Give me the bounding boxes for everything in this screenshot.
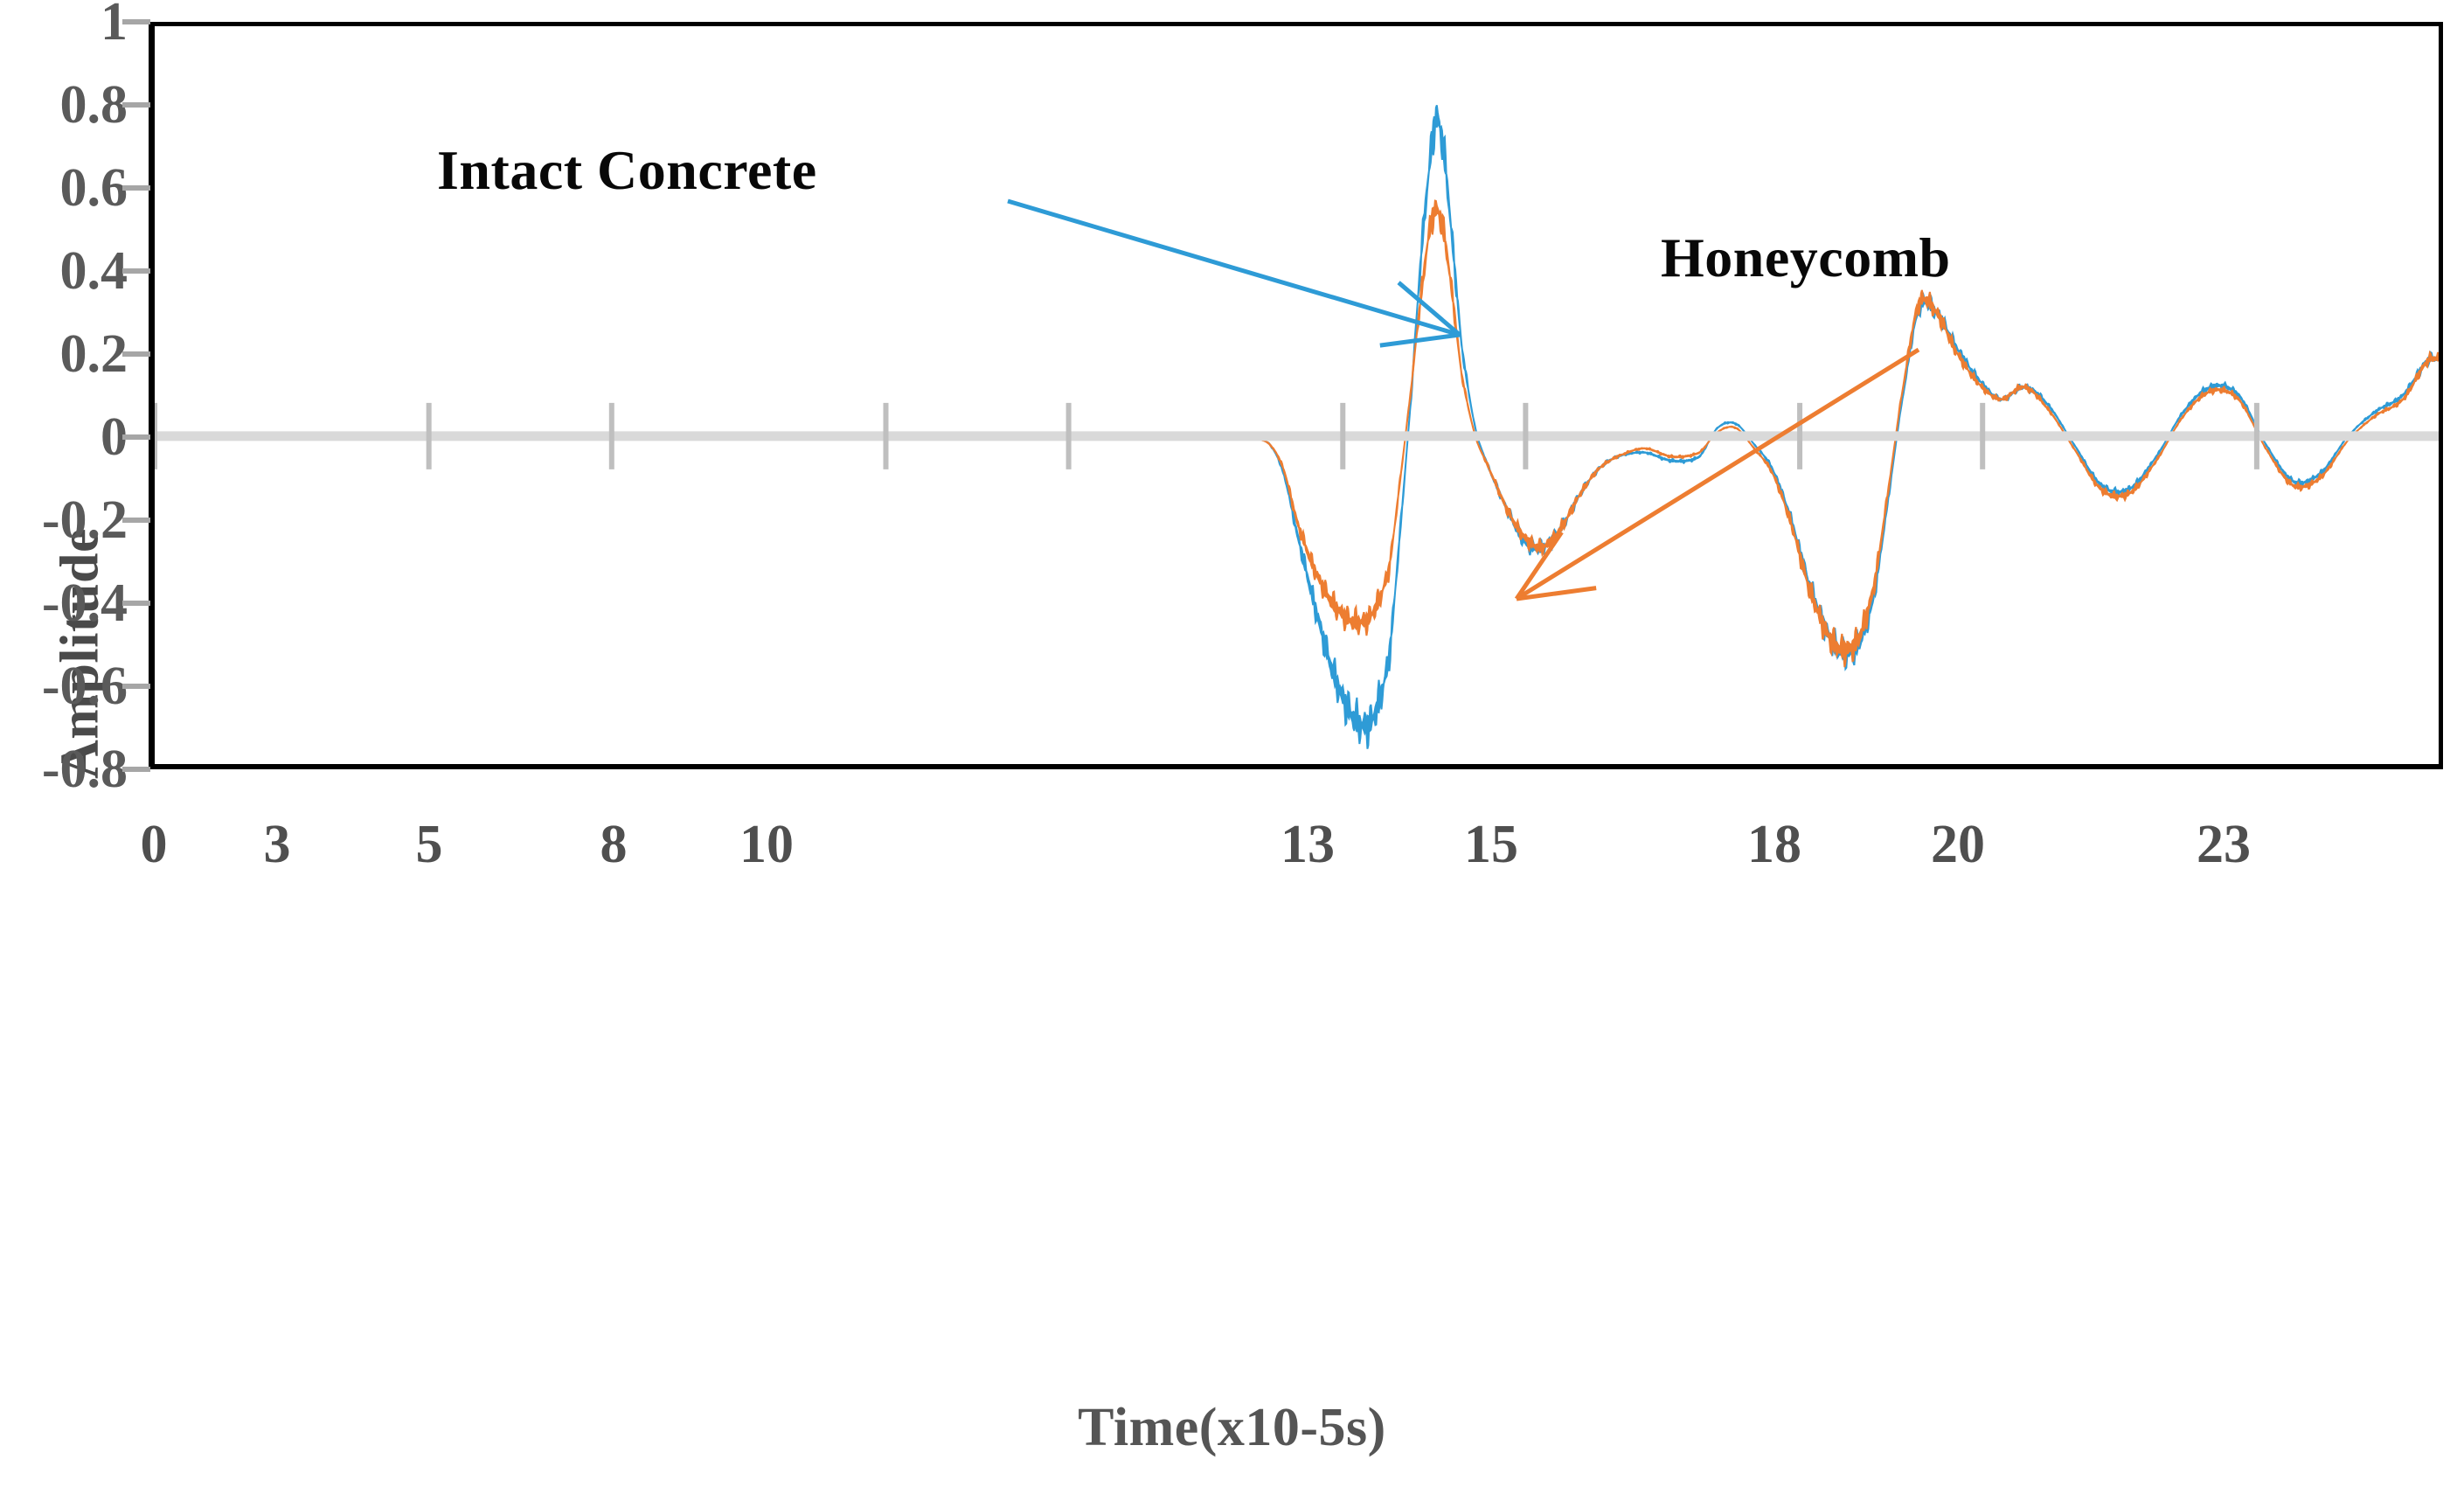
x-tick-label: 0 <box>141 817 168 872</box>
x-tick-label: 23 <box>2197 817 2251 872</box>
x-tick-label: 18 <box>1747 817 1801 872</box>
x-tick-label: 10 <box>739 817 794 872</box>
x-tick-label: 15 <box>1464 817 1518 872</box>
x-axis-title: Time(x10-5s) <box>0 1397 2464 1459</box>
y-tick-label: -0.4 <box>0 576 128 630</box>
y-tick-label: -0.8 <box>0 742 128 796</box>
y-tick-label: 0.6 <box>0 161 128 215</box>
plot-area <box>149 22 2443 769</box>
annotation-intact-concrete: Intact Concrete <box>437 138 817 203</box>
y-tick-label: 1 <box>0 0 128 49</box>
y-tick-label: -0.6 <box>0 659 128 713</box>
x-tick-label: 5 <box>416 817 443 872</box>
y-tick-label: 0.8 <box>0 78 128 132</box>
x-tick-label: 3 <box>264 817 291 872</box>
x-tick-label: 13 <box>1281 817 1335 872</box>
x-tick-label: 20 <box>1931 817 1985 872</box>
y-tick-label: -0.2 <box>0 493 128 547</box>
y-tick-label: 0.4 <box>0 244 128 298</box>
y-tick-label: 0.2 <box>0 327 128 381</box>
chart-root: Amplitude 1 0.8 0.6 0.4 0.2 0 -0.2 -0.4 … <box>0 0 2464 1501</box>
annotation-honeycomb: Honeycomb <box>1661 226 1951 290</box>
waveform-canvas <box>155 26 2440 764</box>
y-tick-label: 0 <box>0 410 128 464</box>
x-tick-label: 8 <box>600 817 628 872</box>
